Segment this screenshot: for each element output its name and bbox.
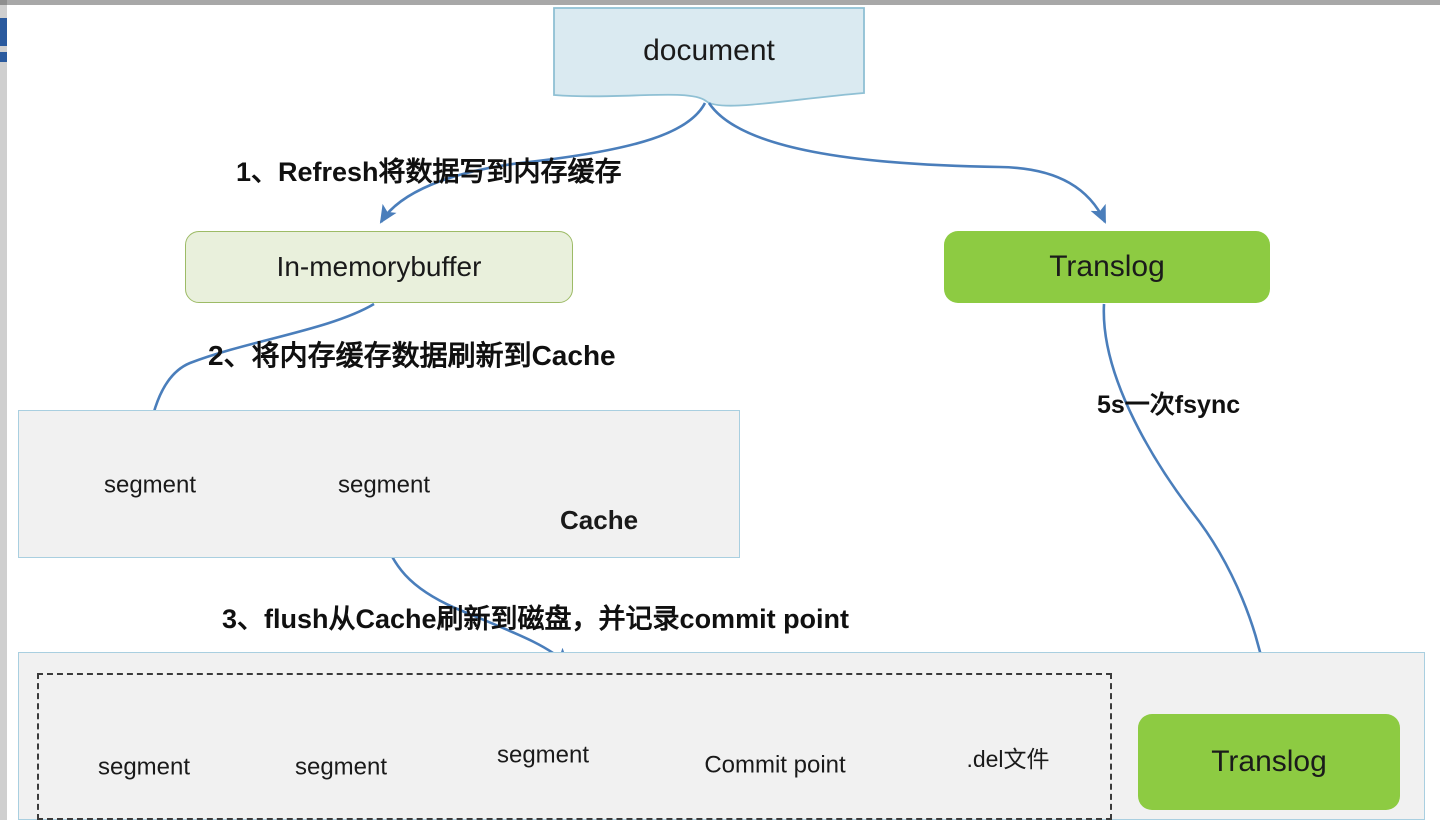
cache-segment-2-label: segment [290,471,478,499]
cache-container-label: Cache [560,505,720,536]
translog-top-label: Translog [1049,250,1165,284]
commit-point-node[interactable]: Commit point [663,703,887,825]
translog-bottom-label: Translog [1211,745,1327,779]
step-2-label: 2、将内存缓存数据刷新到Cache [208,334,616,374]
arrow-document-to-translog [709,103,1105,222]
disk-segment-2-label: segment [255,753,427,781]
cache-segment-1[interactable]: segment [56,431,244,537]
step-3-label: 3、flush从Cache刷新到磁盘，并记录commit point [222,597,849,636]
del-file-label: .del文件 [925,740,1091,774]
disk-segment-3-label: segment [453,741,633,769]
in-memory-buffer-node[interactable]: In-memorybuffer [185,231,573,303]
disk-segment-1[interactable]: segment [58,711,230,821]
fsync-edge-label: 5s一次fsync [1097,385,1240,421]
translog-bottom-node[interactable]: Translog [1138,714,1400,810]
disk-segment-3[interactable]: segment [453,694,633,814]
commit-point-label: Commit point [663,751,887,779]
translog-top-node[interactable]: Translog [944,231,1270,303]
disk-segment-1-label: segment [58,753,230,781]
document-node-label: document [553,7,865,95]
cache-segment-2[interactable]: segment [290,431,478,537]
arrow-translog-fsync [1104,304,1269,704]
in-memory-buffer-label: In-memorybuffer [277,251,482,283]
cache-segment-1-label: segment [56,471,244,499]
diagram-canvas: document In-memorybuffer Translog Cache … [0,0,1440,820]
step-1-label: 1、Refresh将数据写到内存缓存 [236,150,622,189]
disk-segment-2[interactable]: segment [255,711,427,821]
